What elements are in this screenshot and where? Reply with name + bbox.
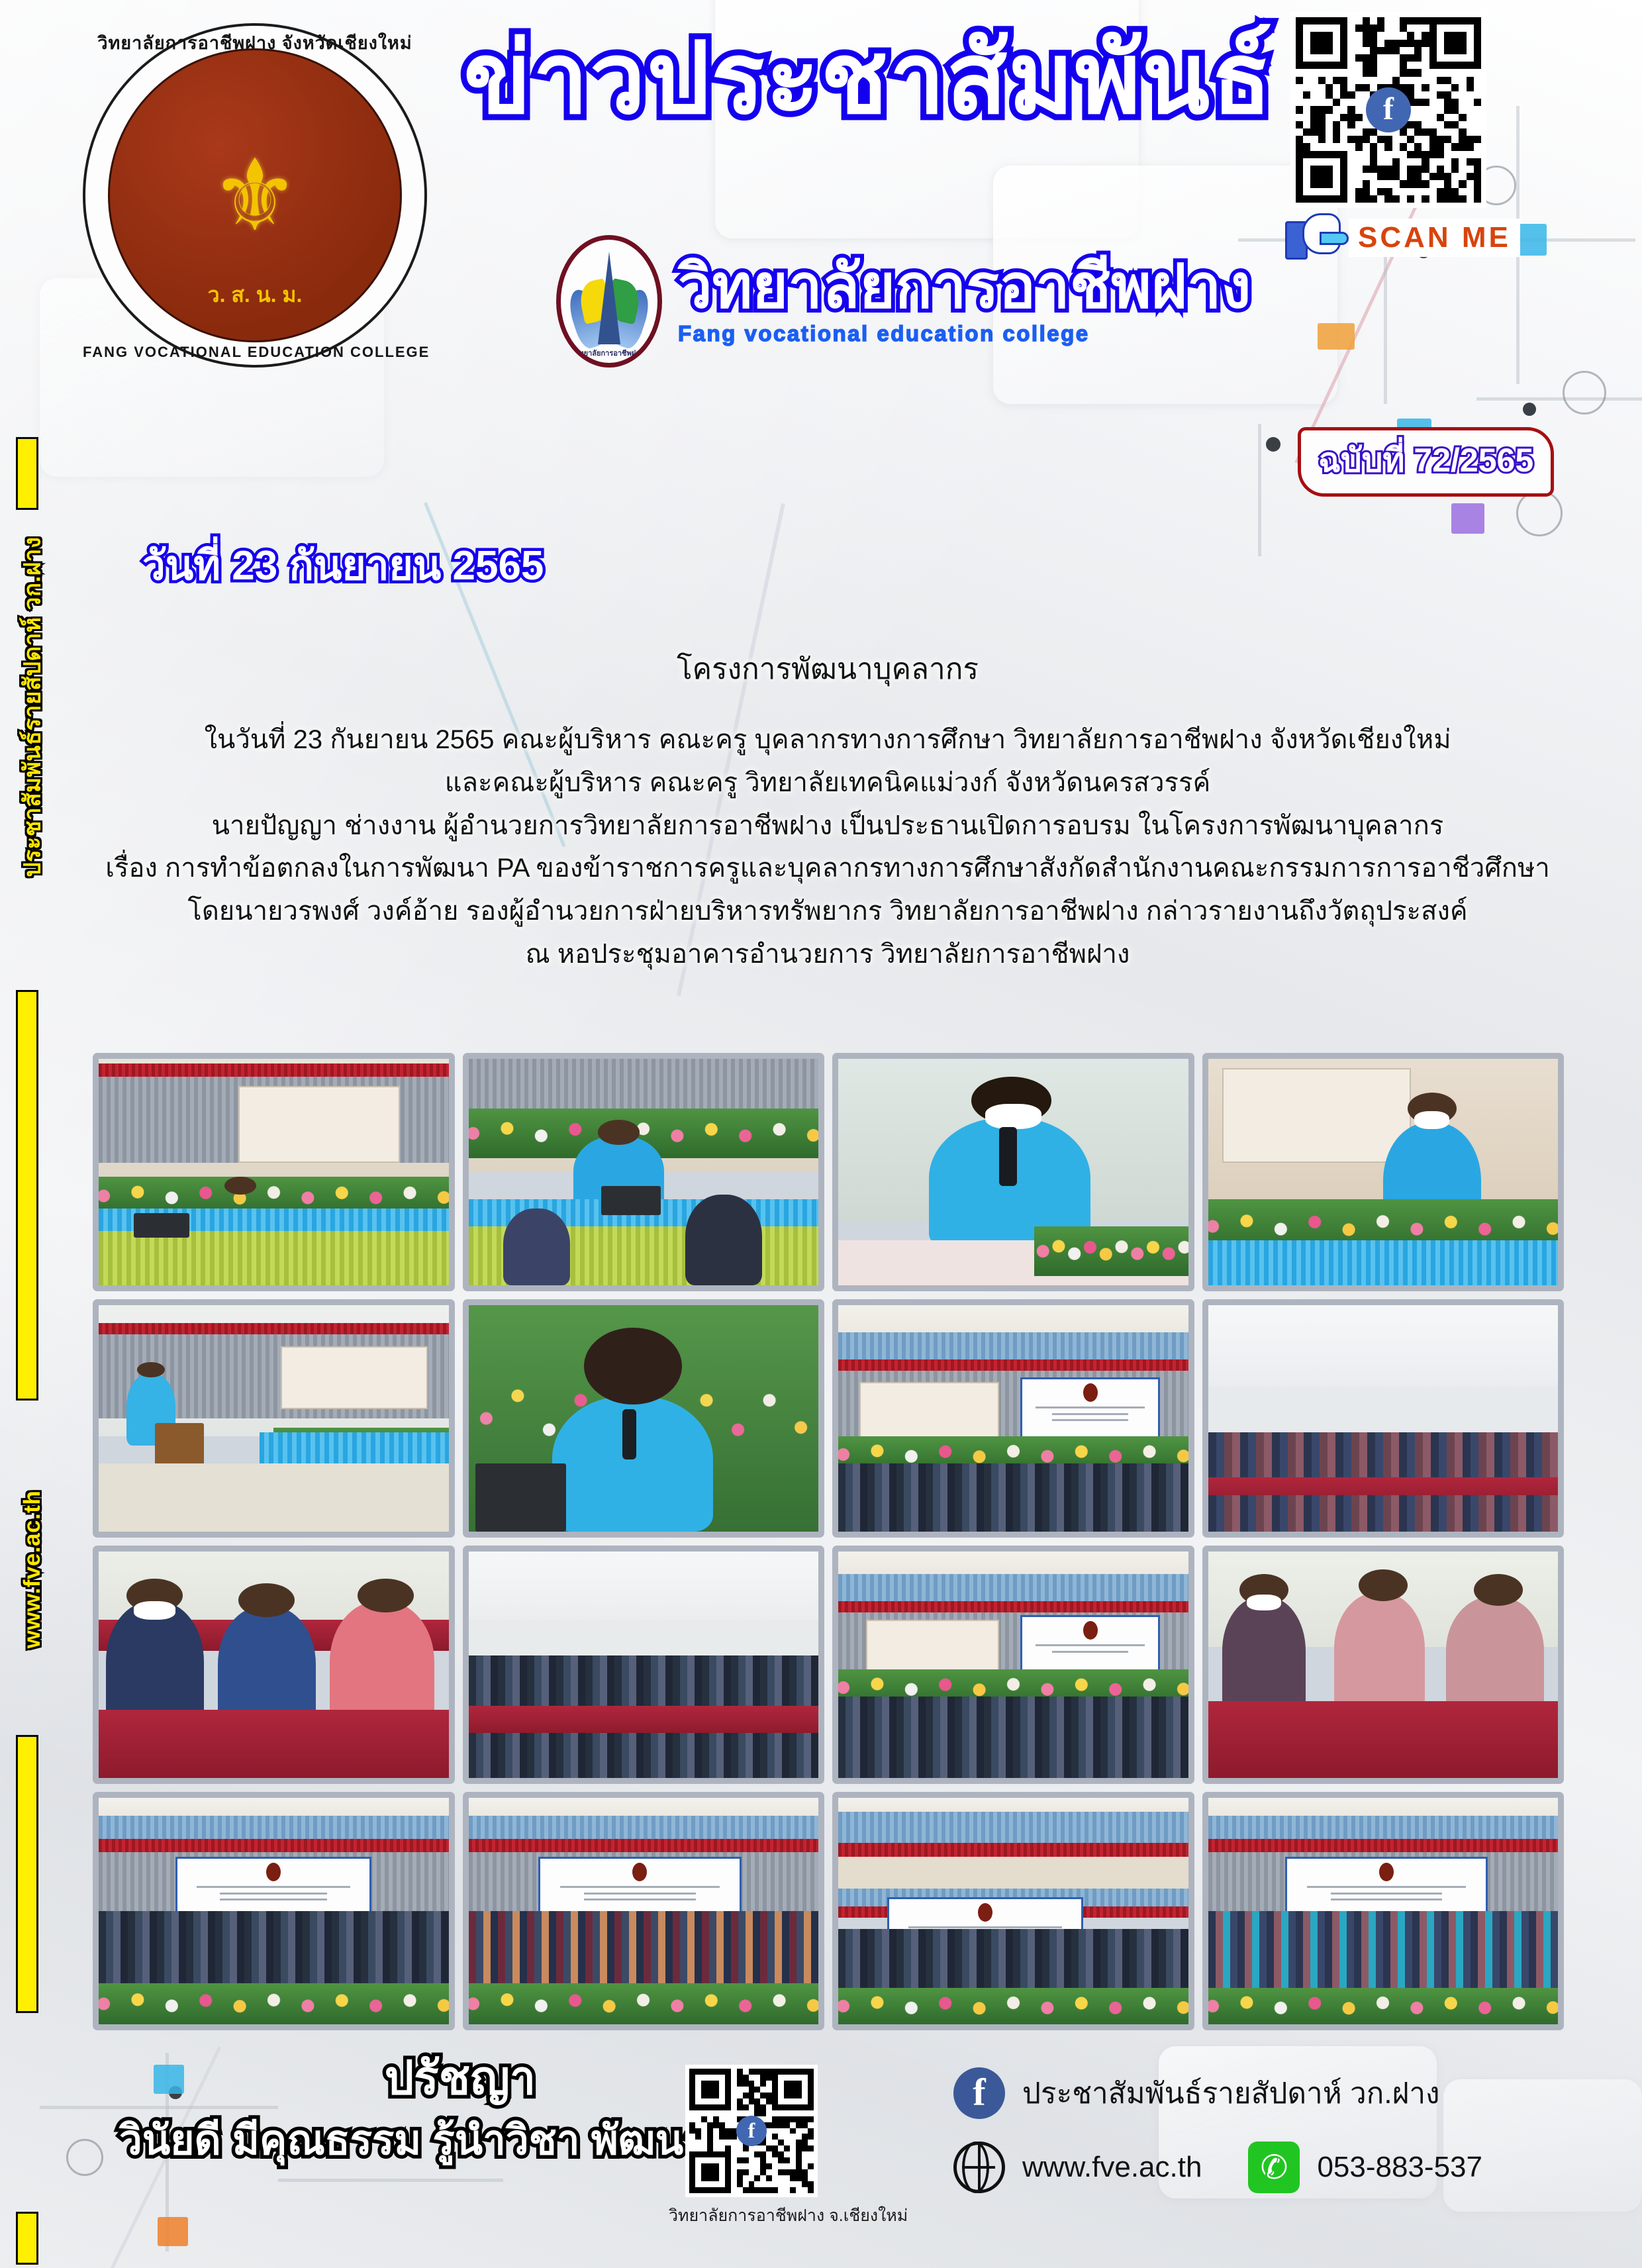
bg-node-circle (1516, 490, 1563, 536)
event-photo-grid (93, 1053, 1564, 2030)
college-name-english: Fang vocational education college (678, 321, 1251, 346)
spear-shape (598, 252, 620, 344)
issue-number-badge: ฉบับที่ 72/2565 (1298, 427, 1554, 497)
event-photo[interactable] (93, 1792, 455, 2030)
rail-segment-mid (16, 990, 38, 1401)
bg-chip (1451, 503, 1484, 534)
college-crest-logo: วิทยาลัยการอาชีพฝาง จังหวัดเชียงใหม่ ⚜ ว… (83, 23, 427, 368)
scan-me-label: SCAN ME (1349, 219, 1520, 257)
event-photo[interactable] (832, 1053, 1194, 1291)
event-photo[interactable] (1202, 1299, 1565, 1538)
poster-root: ประชาสัมพันธ์รายสัปดาห์ วก.ฝาง www.fve.a… (0, 0, 1642, 2268)
crest-emblem-icon: ⚜ (172, 103, 338, 301)
phone-number: 053-883-537 (1317, 2151, 1482, 2184)
pointing-hand-icon (1285, 213, 1349, 262)
article-line: ณ หอประชุมอาคารอำนวยการ วิทยาลัยการอาชีพ… (99, 933, 1556, 976)
poster-header: วิทยาลัยการอาชีพฝาง จังหวัดเชียงใหม่ ⚜ ว… (0, 0, 1642, 457)
facebook-page-name: ประชาสัมพันธ์รายสัปดาห์ วก.ฝาง (1022, 2070, 1440, 2116)
event-photo[interactable] (832, 1792, 1194, 2030)
sidebar-text-top: ประชาสัมพันธ์รายสัปดาห์ วก.ฝาง (15, 502, 51, 912)
event-photo[interactable] (832, 1299, 1194, 1538)
subtitle-row: วิทยาลัยการอาชีพฝาง วิทยาลัยการอาชีพฝาง … (556, 235, 1251, 368)
rail-segment-bottom (16, 1735, 38, 2013)
event-photo[interactable] (1202, 1053, 1565, 1291)
college-mark-ribbon: วิทยาลัยการอาชีพฝาง (561, 347, 657, 359)
phone-icon: ✆ (1248, 2142, 1300, 2193)
phone-contact[interactable]: ✆ 053-883-537 (1248, 2142, 1482, 2193)
facebook-icon: f (1366, 87, 1411, 132)
website-url: www.fve.ac.th (1022, 2151, 1202, 2184)
event-photo[interactable] (463, 1792, 825, 2030)
website-phone-row: www.fve.ac.th ✆ 053-883-537 (953, 2142, 1616, 2193)
article-body: โครงการพัฒนาบุคลากร ในวันที่ 23 กันยายน … (99, 646, 1556, 976)
article-line: นายปัญญา ช่างงาน ผู้อำนวยการวิทยาลัยการอ… (99, 805, 1556, 848)
event-photo[interactable] (463, 1546, 825, 1784)
scan-me-row: SCAN ME (1285, 213, 1539, 262)
header-qr-block[interactable]: f SCAN ME (1275, 12, 1539, 262)
article-heading: โครงการพัฒนาบุคลากร (99, 646, 1556, 692)
sidebar-text-bottom: www.fve.ac.th (19, 1364, 46, 1775)
college-mark-icon: วิทยาลัยการอาชีพฝาง (556, 235, 662, 368)
event-photo[interactable] (463, 1053, 825, 1291)
article-line: โดยนายวรพงศ์ วงค์อ้าย รองผู้อำนวยการฝ่าย… (99, 890, 1556, 933)
facebook-contact-row[interactable]: f ประชาสัมพันธ์รายสัปดาห์ วก.ฝาง (953, 2067, 1616, 2119)
college-name-thai: วิทยาลัยการอาชีพฝาง (678, 256, 1251, 317)
contact-info: f ประชาสัมพันธ์รายสัปดาห์ วก.ฝาง www.fve… (953, 2067, 1616, 2216)
crest-abbreviation: ว. ส. น. ม. (208, 278, 303, 312)
event-photo[interactable] (1202, 1546, 1565, 1784)
website-contact[interactable]: www.fve.ac.th (953, 2142, 1202, 2193)
event-photo[interactable] (463, 1299, 825, 1538)
crest-arc-bottom-text: FANG VOCATIONAL EDUCATION COLLEGE (83, 344, 427, 361)
facebook-icon: f (953, 2067, 1005, 2119)
college-qr-code[interactable]: f (685, 2065, 818, 2197)
page-title: ข่าวประชาสัมพันธ์ (463, 26, 1225, 131)
event-photo[interactable] (832, 1546, 1194, 1784)
event-date: วันที่ 23 กันยายน 2565 (142, 533, 544, 598)
event-photo[interactable] (93, 1299, 455, 1538)
article-line: เรื่อง การทำข้อตกลงในการพัฒนา PA ของข้าร… (99, 847, 1556, 890)
article-line: และคณะผู้บริหาร คณะครู วิทยาลัยเทคนิคแม่… (99, 762, 1556, 805)
footer-qr-block[interactable]: f วิทยาลัยการอาชีพฝาง จ.เชียงใหม่ (669, 2065, 834, 2229)
globe-icon (953, 2142, 1005, 2193)
event-photo[interactable] (93, 1053, 455, 1291)
facebook-icon: f (736, 2116, 767, 2146)
article-line: ในวันที่ 23 กันยายน 2565 คณะผู้บริหาร คณ… (99, 718, 1556, 762)
poster-footer: ปรัชญา วินัยดี มีคุณธรรม รู้นำวิชา พัฒนา… (0, 2046, 1642, 2268)
event-photo[interactable] (1202, 1792, 1565, 2030)
title-block: ข่าวประชาสัมพันธ์ (463, 26, 1225, 131)
event-photo[interactable] (93, 1546, 455, 1784)
qr-caption: วิทยาลัยการอาชีพฝาง จ.เชียงใหม่ (669, 2202, 834, 2229)
facebook-qr-code[interactable]: f (1290, 12, 1486, 208)
